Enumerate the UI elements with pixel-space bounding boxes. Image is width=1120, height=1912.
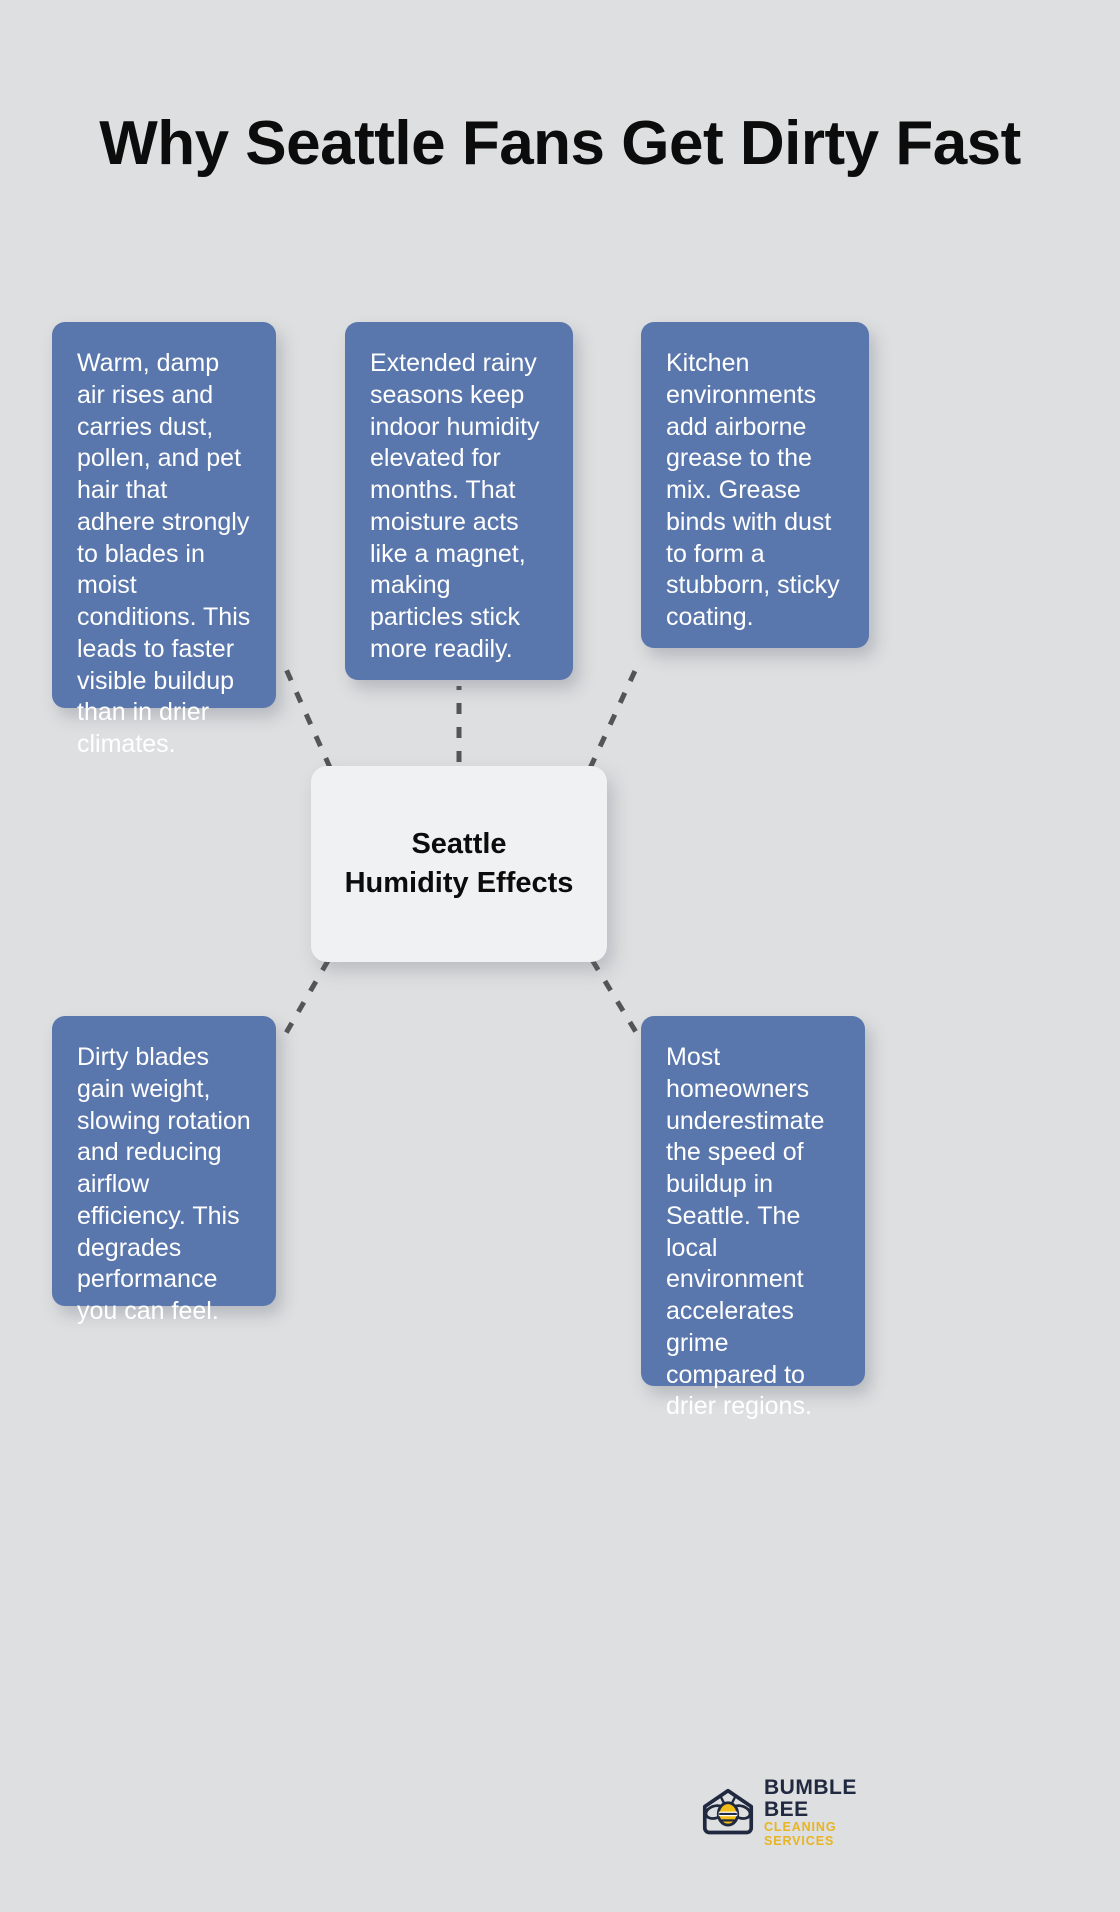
info-card-bottom-right[interactable]: Most homeowners underestimate the speed … bbox=[641, 1016, 865, 1386]
info-card-bottom-left[interactable]: Dirty blades gain weight, slowing rotati… bbox=[52, 1016, 276, 1306]
info-card-text: Most homeowners underestimate the speed … bbox=[666, 1042, 841, 1423]
bumble-bee-house-icon bbox=[700, 1787, 756, 1839]
page-title: Why Seattle Fans Get Dirty Fast bbox=[90, 108, 1030, 179]
center-node[interactable]: Seattle Humidity Effects bbox=[311, 766, 607, 962]
center-node-label: Seattle Humidity Effects bbox=[345, 825, 574, 903]
info-card-text: Dirty blades gain weight, slowing rotati… bbox=[77, 1042, 252, 1328]
logo-tagline: CLEANING SERVICES bbox=[764, 1821, 880, 1849]
logo-name: BUMBLE BEE bbox=[764, 1777, 880, 1821]
logo-wordmark: BUMBLE BEE CLEANING SERVICES bbox=[764, 1777, 880, 1849]
info-card-top-center[interactable]: Extended rainy seasons keep indoor humid… bbox=[345, 322, 573, 680]
infographic-canvas: Why Seattle Fans Get Dirty Fast Warm, da… bbox=[0, 0, 1120, 1912]
info-card-top-right[interactable]: Kitchen environments add airborne grease… bbox=[641, 322, 869, 648]
info-card-text: Extended rainy seasons keep indoor humid… bbox=[370, 348, 549, 666]
info-card-text: Warm, damp air rises and carries dust, p… bbox=[77, 348, 252, 761]
brand-logo[interactable]: BUMBLE BEE CLEANING SERVICES bbox=[700, 1782, 880, 1844]
info-card-top-left[interactable]: Warm, damp air rises and carries dust, p… bbox=[52, 322, 276, 708]
info-card-text: Kitchen environments add airborne grease… bbox=[666, 348, 845, 634]
